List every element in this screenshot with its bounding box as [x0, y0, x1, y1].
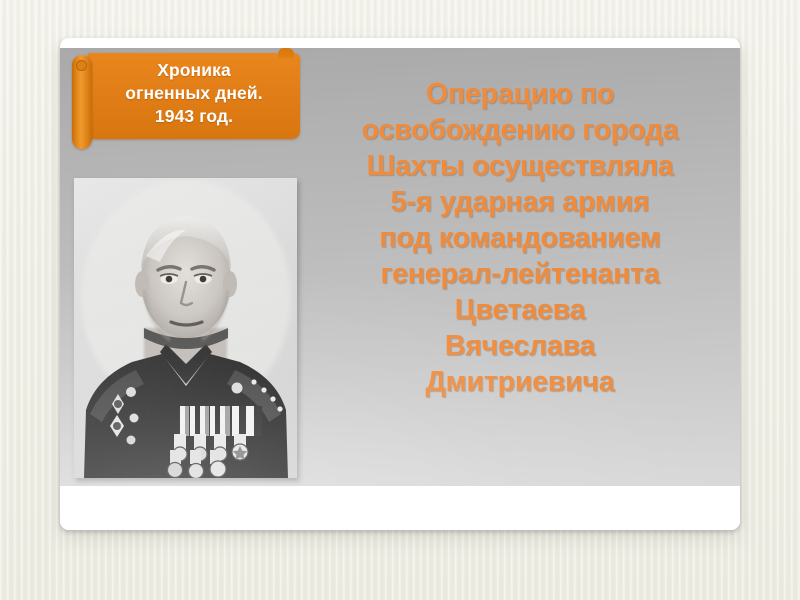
body-line-5: под командованием [308, 220, 732, 256]
body-line-7: Цветаева [308, 292, 732, 328]
scroll-roll-cap-icon [76, 60, 87, 71]
banner-line-2: огненных дней. [90, 82, 298, 105]
scroll-roll-icon [72, 55, 92, 149]
body-line-8: Вячеслава [308, 328, 732, 364]
slide-body-text: Операцию по освобождению города Шахты ос… [308, 76, 732, 400]
slide-surface: Хроника огненных дней. 1943 год. [60, 48, 740, 486]
body-line-4: 5-я ударная армия [308, 184, 732, 220]
body-line-2: освобождению города [308, 112, 732, 148]
portrait-photo [74, 178, 297, 478]
slide-card: Хроника огненных дней. 1943 год. [60, 38, 740, 530]
portrait-figure [74, 178, 297, 478]
banner-tab-nub [278, 48, 294, 58]
body-line-9: Дмитриевича [308, 364, 732, 400]
body-line-1: Операцию по [308, 76, 732, 112]
banner-text: Хроника огненных дней. 1943 год. [90, 59, 298, 128]
slide-footer-band [60, 486, 740, 530]
banner-line-3: 1943 год. [90, 105, 298, 128]
chronicle-banner[interactable]: Хроника огненных дней. 1943 год. [72, 53, 300, 139]
banner-line-1: Хроника [90, 59, 298, 82]
body-line-6: генерал-лейтенанта [308, 256, 732, 292]
body-line-3: Шахты осуществляла [308, 148, 732, 184]
